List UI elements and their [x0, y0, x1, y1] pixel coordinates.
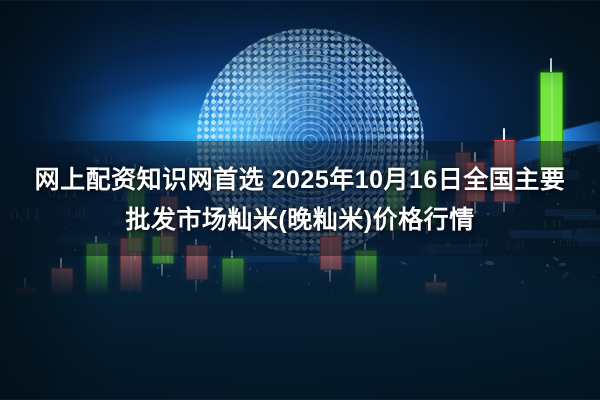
page-title-line-2: 批发市场籼米(晚籼米)价格行情	[0, 200, 600, 240]
banner-image: 0.110.211.113.110.110.111.110.111.111.01…	[0, 0, 600, 400]
edge-top	[0, 0, 600, 1]
page-title-line-1: 网上配资知识网首选 2025年10月16日全国主要	[0, 160, 600, 200]
page-title: 网上配资知识网首选 2025年10月16日全国主要 批发市场籼米(晚籼米)价格行…	[0, 160, 600, 240]
